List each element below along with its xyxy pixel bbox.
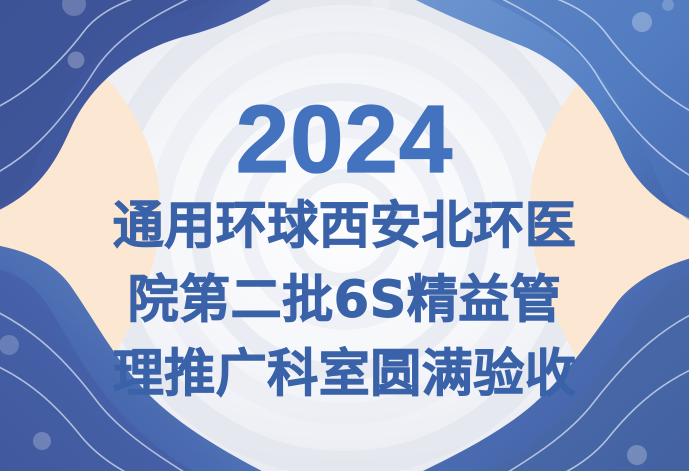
poster-year: 2024 — [236, 96, 454, 184]
poster-canvas: 2024 通用环球西安北环医 院第二批6S精益管 理推广科室圆满验收 — [0, 0, 689, 471]
headline-line-2: 院第二批6S精益管 — [128, 264, 562, 338]
headline-line-1: 通用环球西安北环医 — [113, 190, 577, 264]
poster-content: 2024 通用环球西安北环医 院第二批6S精益管 理推广科室圆满验收 — [0, 0, 689, 471]
headline-line-3: 理推广科室圆满验收 — [113, 338, 577, 412]
poster-headline: 通用环球西安北环医 院第二批6S精益管 理推广科室圆满验收 — [113, 190, 577, 412]
